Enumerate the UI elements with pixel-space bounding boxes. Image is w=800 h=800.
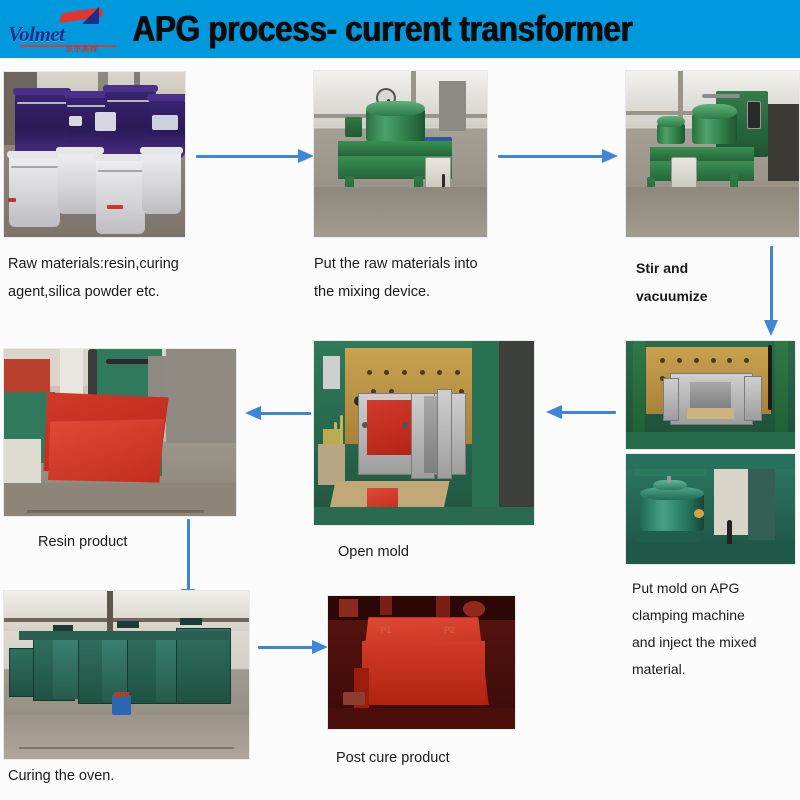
photo-resin-product bbox=[3, 348, 237, 517]
caption-step-4: Put mold on APG clamping machine and inj… bbox=[632, 575, 800, 683]
caption-step-5: Open mold bbox=[338, 538, 558, 566]
caption-step-6: Resin product bbox=[38, 528, 238, 556]
company-logo: Volmet 沃尔美特 bbox=[6, 4, 124, 54]
photo-post-cure-product: P1 P2 bbox=[327, 595, 516, 730]
photo-open-mold bbox=[313, 340, 535, 526]
caption-step-8: Post cure product bbox=[336, 744, 556, 772]
photo-injection-pot bbox=[625, 453, 796, 565]
page-root: Volmet 沃尔美特 APG process- current transfo… bbox=[0, 0, 800, 800]
arrow-step3-to-step4 bbox=[764, 246, 778, 336]
caption-step-7: Curing the oven. bbox=[8, 762, 268, 790]
logo-swoosh-icon bbox=[62, 6, 122, 26]
arrow-step5-to-step6 bbox=[245, 406, 311, 420]
page-header: Volmet 沃尔美特 APG process- current transfo… bbox=[0, 0, 800, 58]
arrow-step1-to-step2 bbox=[196, 149, 314, 163]
logo-subtext: 沃尔美特 bbox=[66, 44, 98, 54]
caption-step-1: Raw materials:resin,curing agent,silica … bbox=[8, 250, 298, 306]
photo-stir-vacuumize bbox=[625, 70, 800, 238]
arrow-step4-to-step5 bbox=[546, 405, 616, 419]
arrow-step7-to-step8 bbox=[258, 640, 328, 654]
photo-raw-materials bbox=[3, 71, 186, 238]
photo-mixing-device bbox=[313, 70, 488, 238]
photo-mold-on-clamping-machine bbox=[625, 340, 796, 450]
page-title: APG process- current transformer bbox=[132, 2, 632, 56]
mold-mark-p1: P1 bbox=[380, 625, 391, 635]
mold-mark-p2: P2 bbox=[444, 625, 455, 635]
header-divider bbox=[0, 58, 800, 62]
photo-curing-oven bbox=[3, 590, 250, 760]
logo-wordmark: Volmet bbox=[8, 22, 65, 47]
caption-step-2: Put the raw materials into the mixing de… bbox=[314, 250, 614, 306]
arrow-step2-to-step3 bbox=[498, 149, 618, 163]
